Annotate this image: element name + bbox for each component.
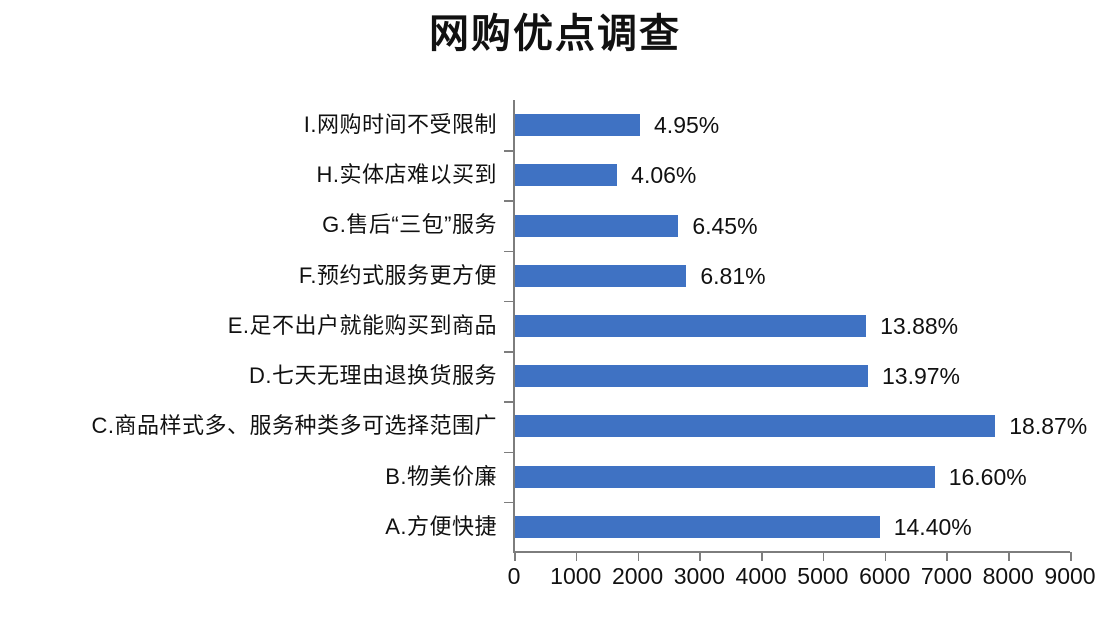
- chart-bar[interactable]: [514, 466, 935, 488]
- bar-value-label: 18.87%: [1009, 412, 1087, 440]
- y-axis-category-label: F.预约式服务更方便: [299, 251, 497, 301]
- chart-category-row: C.商品样式多、服务种类多可选择范围广18.87%: [0, 401, 1110, 451]
- x-axis-tick: [1070, 552, 1072, 561]
- y-axis-tick: [504, 251, 513, 253]
- y-axis-category-label: I.网购时间不受限制: [304, 100, 497, 150]
- x-axis-tick: [946, 552, 948, 561]
- chart-bar[interactable]: [514, 265, 686, 287]
- y-axis-category-label: G.售后“三包”服务: [322, 200, 497, 250]
- y-axis-tick: [504, 200, 513, 202]
- x-axis-tick: [576, 552, 578, 561]
- chart-bar[interactable]: [514, 215, 678, 237]
- bar-value-label: 4.95%: [654, 111, 719, 139]
- x-axis-tick-label: 8000: [983, 563, 1034, 590]
- x-axis-tick: [823, 552, 825, 561]
- y-axis-tick: [504, 401, 513, 403]
- x-axis-line: [513, 551, 1070, 553]
- chart-bar[interactable]: [514, 365, 868, 387]
- y-axis-line: [513, 100, 515, 552]
- chart-category-row: A.方便快捷14.40%: [0, 502, 1110, 552]
- chart-category-row: G.售后“三包”服务6.45%: [0, 200, 1110, 250]
- y-axis-tick: [504, 502, 513, 504]
- y-axis-category-label: H.实体店难以买到: [316, 150, 497, 200]
- bar-value-label: 14.40%: [894, 513, 972, 541]
- category-rows: I.网购时间不受限制4.95%H.实体店难以买到4.06%G.售后“三包”服务6…: [0, 100, 1110, 552]
- y-axis-tick: [504, 301, 513, 303]
- chart-category-row: B.物美价廉16.60%: [0, 452, 1110, 502]
- x-axis-tick: [699, 552, 701, 561]
- x-axis-tick-label: 3000: [674, 563, 725, 590]
- y-axis-category-label: C.商品样式多、服务种类多可选择范围广: [91, 401, 497, 451]
- x-axis-tick-label: 7000: [921, 563, 972, 590]
- chart-category-row: H.实体店难以买到4.06%: [0, 150, 1110, 200]
- x-axis-tick-label: 9000: [1044, 563, 1095, 590]
- chart-category-row: D.七天无理由退换货服务13.97%: [0, 351, 1110, 401]
- chart-category-row: E.足不出户就能购买到商品13.88%: [0, 301, 1110, 351]
- y-axis-category-label: E.足不出户就能购买到商品: [228, 301, 497, 351]
- bar-value-label: 6.81%: [700, 262, 765, 290]
- x-axis-tick: [638, 552, 640, 561]
- chart-bar[interactable]: [514, 415, 995, 437]
- bar-chart-figure: 网购优点调查 I.网购时间不受限制4.95%H.实体店难以买到4.06%G.售后…: [0, 0, 1110, 620]
- y-axis-tick: [504, 351, 513, 353]
- chart-bar[interactable]: [514, 164, 617, 186]
- x-axis-tick-label: 1000: [550, 563, 601, 590]
- x-axis-tick: [1008, 552, 1010, 561]
- y-axis-category-label: D.七天无理由退换货服务: [249, 351, 497, 401]
- chart-category-row: F.预约式服务更方便6.81%: [0, 251, 1110, 301]
- x-axis-tick-label: 4000: [736, 563, 787, 590]
- bar-value-label: 6.45%: [692, 212, 757, 240]
- y-axis-tick: [504, 150, 513, 152]
- chart-bar[interactable]: [514, 516, 880, 538]
- chart-bar[interactable]: [514, 114, 640, 136]
- bar-value-label: 4.06%: [631, 161, 696, 189]
- x-axis-tick-label: 0: [508, 563, 521, 590]
- x-axis-tick: [885, 552, 887, 561]
- x-axis-tick-label: 2000: [612, 563, 663, 590]
- x-axis-tick-label: 6000: [859, 563, 910, 590]
- y-axis-tick: [504, 452, 513, 454]
- chart-bar[interactable]: [514, 315, 866, 337]
- bar-value-label: 16.60%: [949, 463, 1027, 491]
- y-axis-category-label: A.方便快捷: [385, 502, 497, 552]
- y-axis-category-label: B.物美价廉: [385, 452, 497, 502]
- x-axis-tick: [514, 552, 516, 561]
- bar-value-label: 13.88%: [880, 312, 958, 340]
- bar-value-label: 13.97%: [882, 362, 960, 390]
- plot-area: I.网购时间不受限制4.95%H.实体店难以买到4.06%G.售后“三包”服务6…: [0, 0, 1110, 620]
- x-axis-tick: [761, 552, 763, 561]
- x-axis-tick-label: 5000: [797, 563, 848, 590]
- chart-category-row: I.网购时间不受限制4.95%: [0, 100, 1110, 150]
